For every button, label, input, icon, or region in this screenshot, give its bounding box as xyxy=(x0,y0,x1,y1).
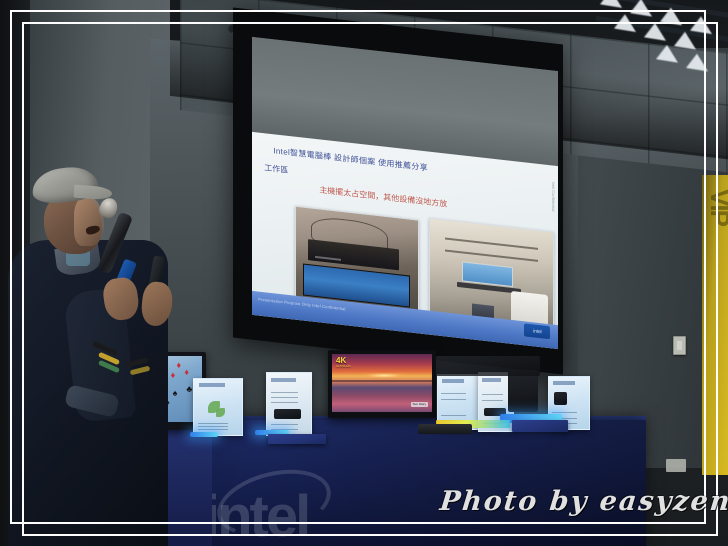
triangle-light-icon xyxy=(656,43,678,62)
power-outlet xyxy=(666,459,686,472)
presentation-slide: Intel智慧電腦棒 設計師個案 使用推薦分享 工作區 主機擺太占空間，其他設備… xyxy=(252,131,558,349)
slide-subtitle: 工作區 xyxy=(264,162,288,176)
sunset-glow xyxy=(364,373,404,379)
conference-room-scene: VIP Intel智慧電腦棒 設計師個案 使用推薦分享 工作區 主機擺太占空間，… xyxy=(0,0,728,546)
spec-sheet-center xyxy=(266,372,312,436)
led-riser xyxy=(190,432,218,437)
photo-watermark: Photo by easyzen xyxy=(438,486,728,517)
light-switch-plate[interactable] xyxy=(673,336,686,355)
slide-footer-text: Presentation Purpose Only Intel Confiden… xyxy=(258,297,346,312)
projection-screen: Intel智慧電腦棒 設計師個案 使用推薦分享 工作區 主機擺太占空間，其他設備… xyxy=(252,37,558,349)
slide-highlight-text: 主機擺太占空間，其他設備沒地方放 xyxy=(319,185,447,210)
triangle-light-icon xyxy=(600,0,622,8)
presenter xyxy=(8,160,188,546)
triangle-light-icon xyxy=(660,6,682,25)
photograph: VIP Intel智慧電腦棒 設計師個案 使用推薦分享 工作區 主機擺太占空間，… xyxy=(0,0,728,546)
triangle-light-icon xyxy=(686,52,708,71)
intel-logo-label: intel xyxy=(533,328,541,335)
horizon-line xyxy=(332,380,432,382)
intel-logo-icon: intel xyxy=(524,323,550,339)
triangle-light-icon xyxy=(690,15,712,34)
product-box xyxy=(268,434,326,444)
display-riser-back xyxy=(436,356,540,376)
face-highlight xyxy=(74,196,104,246)
mini-pc xyxy=(508,370,538,412)
presenter-hand-right xyxy=(140,281,174,328)
slide-photo-av-cabinet xyxy=(295,206,419,312)
four-k-badge-sub: ULTRA HD xyxy=(336,365,351,368)
four-k-badge: 4K ULTRA HD xyxy=(336,357,351,368)
keyboard xyxy=(418,424,472,434)
slide-title: Intel智慧電腦棒 設計師個案 使用推薦分享 xyxy=(273,145,427,173)
four-k-monitor: 4K ULTRA HD Sun Glory xyxy=(328,350,436,418)
image-caption-tag: Sun Glory xyxy=(411,402,428,407)
triangle-light-icon xyxy=(614,13,636,32)
triangle-light-icon xyxy=(644,21,666,40)
triangle-light-icon xyxy=(630,0,652,17)
product-box xyxy=(512,420,568,432)
slide-side-watermark: Intel Confidential xyxy=(551,182,556,212)
wall-banner: VIP xyxy=(702,175,728,475)
monitor-screen: 4K ULTRA HD Sun Glory xyxy=(332,354,432,412)
banner-text: VIP xyxy=(704,189,728,225)
spec-sheet-left xyxy=(193,378,243,436)
